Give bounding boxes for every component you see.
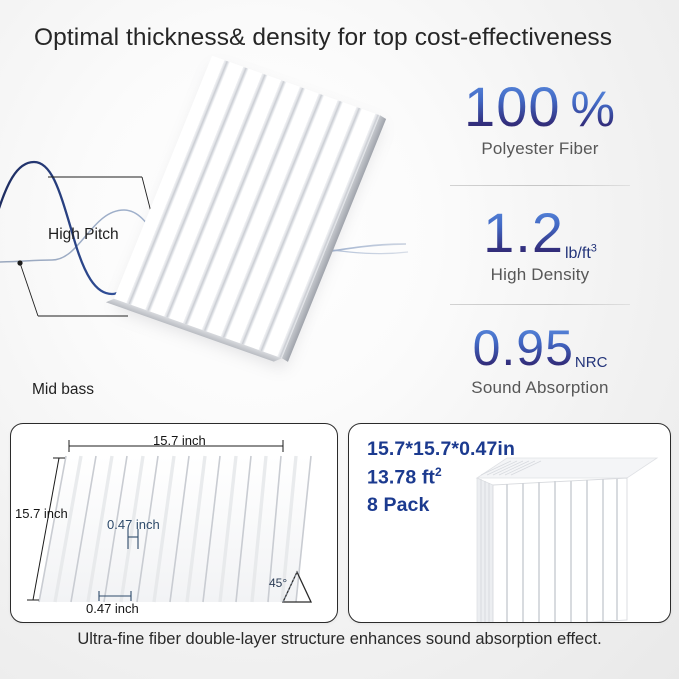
stat-value-density: 1.2 [483, 204, 564, 261]
mid-bass-leader [20, 263, 38, 316]
groove-depth-label: 0.47 inch [107, 517, 160, 532]
stat-divider-2 [450, 304, 630, 305]
high-pitch-anchor-dot [149, 213, 154, 218]
stat-value-nrc: 0.95 [473, 323, 574, 374]
high-pitch-label: High Pitch [48, 226, 119, 244]
angle-label: 45° [269, 576, 287, 590]
pack-card: 15.7*15.7*0.47in 13.78 ft2 8 Pack [348, 423, 671, 623]
stat-polyester-fiber: 100% Polyester Fiber [424, 78, 656, 159]
stat-unit-density: lb/ft3 [565, 245, 597, 262]
height-label: 15.7 inch [15, 506, 68, 521]
stat-sound-absorption: 0.95NRC Sound Absorption [424, 323, 656, 398]
stack-depth [477, 458, 657, 478]
stack-side [477, 478, 493, 623]
slat-width-label: 0.47 inch [86, 601, 139, 616]
stat-value-polyester: 100 [464, 78, 560, 135]
mid-bass-label: Mid bass [32, 381, 94, 399]
panel-stack-illustration [467, 452, 667, 623]
dimensions-card: 15.7 inch 15.7 inch 0.47 inch 0.47 inch … [10, 423, 338, 623]
dimensions-diagram [11, 424, 337, 622]
stat-caption-polyester: Polyester Fiber [424, 139, 656, 159]
width-label: 15.7 inch [153, 433, 206, 448]
stack-front-face [493, 478, 627, 623]
footer-caption: Ultra-fine fiber double-layer structure … [0, 630, 679, 649]
wave-illustration: High Pitch Mid bass [0, 64, 420, 414]
stat-caption-nrc: Sound Absorption [424, 378, 656, 398]
stats-panel: 100% Polyester Fiber 1.2lb/ft3 High Dens… [424, 78, 656, 410]
page-title: Optimal thickness& density for top cost-… [34, 24, 654, 52]
infographic-page: Optimal thickness& density for top cost-… [0, 0, 679, 679]
stat-divider-1 [450, 185, 630, 186]
stat-unit-nrc: NRC [575, 354, 608, 371]
stat-high-density: 1.2lb/ft3 High Density [424, 204, 656, 285]
stat-unit-density-exponent: 3 [591, 243, 597, 255]
high-pitch-leader [142, 177, 152, 216]
mid-bass-wave [0, 210, 250, 278]
pack-area-exponent: 2 [435, 465, 442, 479]
stat-caption-density: High Density [424, 265, 656, 285]
stat-unit-percent: % [570, 84, 615, 135]
